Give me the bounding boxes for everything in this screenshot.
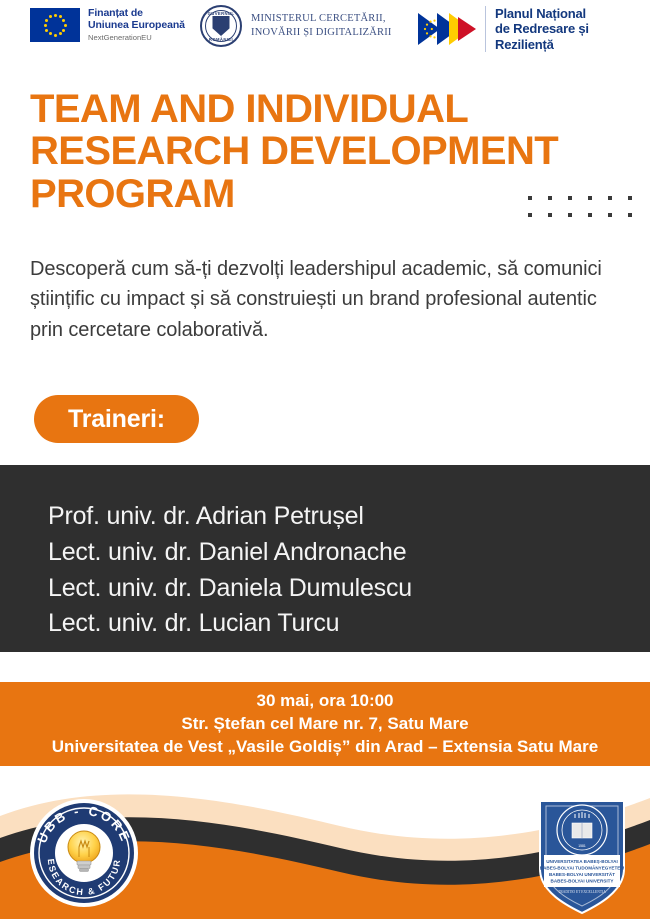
event-info-band: 30 mai, ora 10:00 Str. Ștefan cel Mare n…: [0, 682, 650, 766]
romanian-government-ministry-logo: GUVERNUL ROMÂNIEI MINISTERUL CERCETĂRII,…: [200, 5, 392, 47]
pnrr-line1: Planul Național: [495, 6, 650, 21]
eu-logo-line2: Uniunea Europeană: [88, 20, 185, 32]
trainer-item: Lect. univ. dr. Lucian Turcu: [48, 606, 650, 642]
seal-bottom-text: ROMÂNIEI: [202, 37, 240, 42]
ubb-core-logo: UBB - CORE RESEARCH & FUTURE: [28, 797, 140, 909]
trainers-badge: Traineri:: [34, 395, 199, 443]
pnrr-logo: Planul Național de Redresare și Rezilien…: [418, 6, 650, 52]
trainers-section: Prof. univ. dr. Adrian PetrușelLect. uni…: [0, 465, 650, 652]
seal-top-text: GUVERNUL: [202, 11, 240, 16]
eu-logo-line1: Finanțat de: [88, 8, 185, 20]
trainers-badge-label: Traineri:: [68, 405, 165, 434]
government-seal-icon: GUVERNUL ROMÂNIEI: [200, 5, 242, 47]
eu-flag-icon: [30, 8, 80, 42]
ministry-line1: MINISTERUL CERCETĂRII,: [251, 12, 392, 26]
intro-paragraph: Descoperă cum să-ți dezvolți leadershipu…: [30, 254, 610, 345]
trainer-item: Lect. univ. dr. Daniel Andronache: [48, 535, 650, 571]
pnrr-line2: de Redresare și Reziliență: [495, 21, 650, 52]
ubb-university-shield-logo: 1581 UNIVERSITATEA BABEȘ-BOLYAI BABES-BO…: [534, 797, 630, 917]
event-address: Str. Ștefan cel Mare nr. 7, Satu Mare: [0, 714, 650, 734]
shield-line-4: BABES-BOLYAI UNIVERSITY: [551, 879, 614, 884]
shield-line-3: BABES-BOLYAI UNIVERSITÄT: [549, 871, 615, 877]
trainer-item: Prof. univ. dr. Adrian Petrușel: [48, 499, 650, 535]
event-venue: Universitatea de Vest „Vasile Goldiș” di…: [0, 737, 650, 757]
pnrr-arrows-icon: [418, 11, 476, 47]
trainers-list: Prof. univ. dr. Adrian PetrușelLect. uni…: [48, 499, 650, 642]
trainer-item: Lect. univ. dr. Daniela Dumulescu: [48, 571, 650, 607]
funding-logo-strip: Finanțat de Uniunea Europeană NextGenera…: [0, 0, 650, 55]
eu-funding-logo: Finanțat de Uniunea Europeană NextGenera…: [30, 8, 185, 42]
shield-line-2: BABES-BOLYAI TUDOMÁNYEGYETEM: [540, 865, 625, 871]
event-datetime: 30 mai, ora 10:00: [0, 691, 650, 711]
ministry-line2: INOVĂRII ȘI DIGITALIZĂRII: [251, 26, 392, 40]
svg-text:1581: 1581: [578, 844, 586, 848]
shield-motto: TRADITIO ET EXCELLENTIA: [558, 890, 606, 894]
poster-canvas: Finanțat de Uniunea Europeană NextGenera…: [0, 0, 650, 919]
dot-grid-decoration: [528, 196, 646, 224]
eu-logo-line3: NextGenerationEU: [88, 34, 185, 43]
